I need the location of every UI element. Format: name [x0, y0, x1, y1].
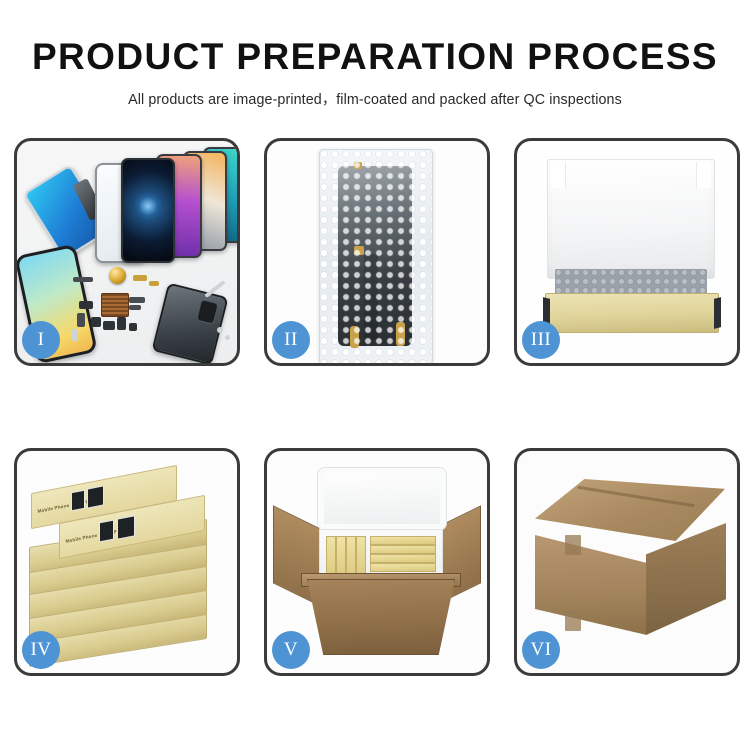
camera-ring-part: [109, 267, 126, 284]
gold-tab-middle: [354, 246, 364, 255]
part-block-2: [77, 313, 85, 327]
inner-box-6: [370, 545, 436, 554]
infographic-page: PRODUCT PREPARATION PROCESS All products…: [0, 0, 750, 750]
inner-box-5: [370, 536, 436, 545]
part-strip-1: [73, 277, 93, 282]
screen-flex-cable: [364, 254, 378, 340]
gold-tab-bottom-right: [396, 322, 405, 346]
box-art-screen-top-1: [71, 490, 85, 512]
page-title: PRODUCT PREPARATION PROCESS: [0, 38, 750, 77]
panel-stage-3: III: [514, 138, 740, 366]
box-art-screen-top-2: [87, 485, 104, 508]
badge-stage-4: IV: [22, 631, 60, 669]
phone-dark-display: [121, 158, 175, 263]
badge-stage-1: I: [22, 321, 60, 359]
part-connector-2: [149, 281, 159, 286]
part-screw-1: [217, 327, 223, 333]
panel-stage-6: VI: [514, 448, 740, 676]
part-block-3: [91, 317, 101, 327]
header: PRODUCT PREPARATION PROCESS All products…: [0, 0, 750, 109]
part-block-4: [71, 329, 78, 341]
carton-front-face: [535, 535, 647, 635]
gold-tab-bottom-left: [350, 326, 359, 348]
carton-top-face: [535, 479, 725, 541]
part-flex-1: [129, 297, 145, 303]
part-block-7: [129, 323, 137, 331]
box-art-screen-front-1: [99, 520, 114, 543]
carton-tape-lower: [565, 611, 581, 631]
part-block-1: [79, 301, 93, 309]
panel-stage-1: I: [14, 138, 240, 366]
inner-box-7: [370, 554, 436, 563]
inner-box-3: [346, 536, 356, 578]
badge-stage-2: II: [272, 321, 310, 359]
inner-box-4: [356, 536, 366, 578]
phone-back-housing: [151, 283, 228, 366]
gold-tab-top: [354, 162, 362, 169]
foam-lid: [547, 159, 715, 279]
box-art-screen-front-2: [117, 515, 135, 539]
part-connector-1: [133, 275, 147, 281]
carton-tape-upper: [565, 535, 581, 555]
part-screw-2: [225, 335, 230, 340]
page-subtitle: All products are image-printed，film-coat…: [0, 88, 750, 109]
panel-stage-4: Mobile Phone Spare Parts Mobile Phone Sp…: [14, 448, 240, 676]
inner-box-1: [326, 536, 336, 578]
badge-stage-6: VI: [522, 631, 560, 669]
part-block-5: [103, 321, 115, 330]
carton-body: [307, 579, 455, 655]
bubble-wrap-bag: [319, 149, 433, 365]
panel-stage-2: II: [264, 138, 490, 366]
badge-stage-5: V: [272, 631, 310, 669]
process-grid: I II I: [14, 138, 736, 676]
foam-lid-open: [317, 467, 447, 531]
part-block-6: [117, 317, 126, 330]
badge-stage-3: III: [522, 321, 560, 359]
inner-box-8: [370, 563, 436, 572]
carton-side-face: [646, 523, 726, 635]
yellow-inner-box: [545, 293, 719, 333]
chip-board-part: [101, 293, 129, 317]
panel-stage-5: V: [264, 448, 490, 676]
inner-box-2: [336, 536, 346, 578]
part-flex-2: [129, 305, 141, 310]
